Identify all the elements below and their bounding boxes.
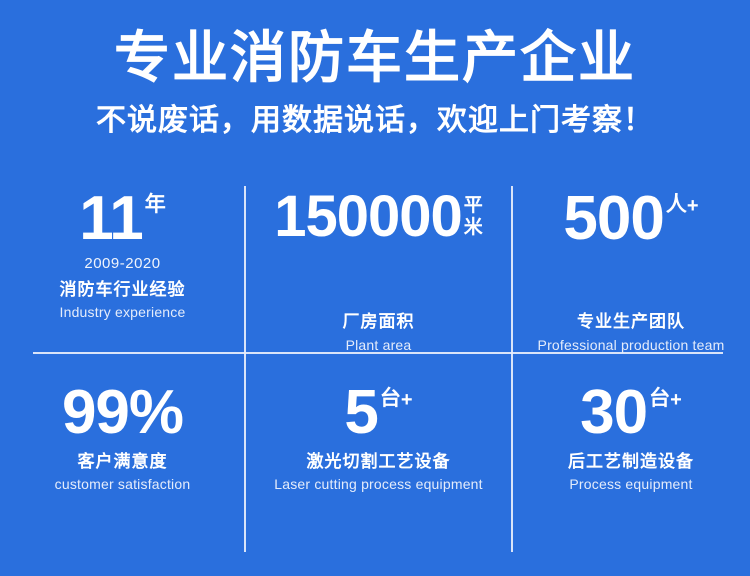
stat-label-cn: 激光切割工艺设备 [307,451,451,472]
stat-label-en: Process equipment [569,476,692,494]
stat-number: 30 [580,384,647,441]
stat-number: 150000 [274,190,462,243]
page-subtitle: 不说废话，用数据说话，欢迎上门考察！ [0,90,750,140]
stat-cell-production-team: 500 人 + 专业生产团队 Professional production t… [512,178,750,354]
stat-number-line: 30 台 + [580,384,682,441]
stat-number: 500 [563,190,663,247]
stat-year-range: 2009-2020 [84,255,160,273]
stat-label-en: Industry experience [60,304,186,322]
stat-number-line: 99% [62,384,183,441]
stat-number-line: 500 人 + [563,190,698,247]
stat-unit-char-2: 米 [464,217,483,239]
stat-number-line: 11 年 [79,190,166,247]
banner-header: 专业消防车生产企业 不说废话，用数据说话，欢迎上门考察！ [0,0,750,170]
stats-grid: 11 年 2009-2020 消防车行业经验 Industry experien… [0,178,750,568]
stat-label-cn: 客户满意度 [78,451,168,472]
stat-number-line: 5 台 + [344,384,412,441]
stat-cell-industry-experience: 11 年 2009-2020 消防车行业经验 Industry experien… [0,178,245,354]
stat-label-cn: 专业生产团队 [577,311,685,332]
promo-banner: 专业消防车生产企业 不说废话，用数据说话，欢迎上门考察！ 11 年 2009-2… [0,0,750,576]
stat-label-cn: 厂房面积 [343,311,415,332]
grid-divider-vertical-left [244,186,246,552]
grid-divider-horizontal [33,352,723,354]
stat-plus: + [687,190,699,216]
stat-unit: 台 [378,384,401,410]
grid-divider-vertical-right [511,186,513,552]
stat-cell-customer-satisfaction: 99% 客户满意度 customer satisfaction [0,354,245,568]
stat-cell-laser-cutting: 5 台 + 激光切割工艺设备 Laser cutting process equ… [245,354,512,568]
stat-number: 99% [62,384,183,441]
stat-plus: + [401,384,413,410]
stat-label-cn: 消防车行业经验 [60,279,186,300]
stat-label-cn: 后工艺制造设备 [568,451,694,472]
stat-unit: 平 米 [462,190,483,239]
stat-label-en: customer satisfaction [55,476,191,494]
stat-number: 11 [79,190,143,247]
stat-unit: 台 [647,384,670,410]
stat-plus: + [670,384,682,410]
stat-number-line: 150000 平 米 [274,190,483,243]
page-title: 专业消防车生产企业 [0,0,750,90]
stat-unit-char-1: 平 [464,195,483,217]
stat-cell-process-equipment: 30 台 + 后工艺制造设备 Process equipment [512,354,750,568]
stat-number: 5 [344,384,377,441]
stat-unit: 人 [664,190,687,216]
stat-cell-plant-area: 150000 平 米 厂房面积 Plant area [245,178,512,354]
stat-label-en: Laser cutting process equipment [274,476,483,494]
stat-unit: 年 [143,190,166,216]
